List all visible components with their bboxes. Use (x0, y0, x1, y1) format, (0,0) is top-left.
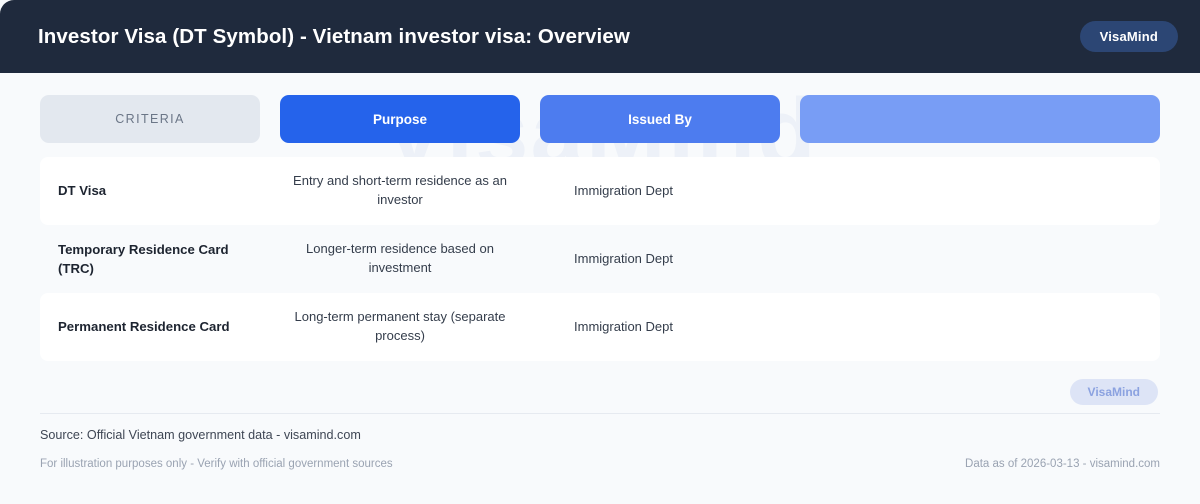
source-line: Source: Official Vietnam government data… (40, 428, 1160, 442)
cell-criteria: Temporary Residence Card (TRC) (40, 226, 260, 292)
table-container: CRITERIA Purpose Issued By DT Visa Entry… (0, 73, 1200, 361)
column-header-criteria[interactable]: CRITERIA (40, 95, 260, 143)
footer: VisaMind Source: Official Vietnam govern… (0, 379, 1200, 470)
data-as-of-text: Data as of 2026-03-13 - visamind.com (965, 458, 1160, 470)
cell-issued-by: Immigration Dept (540, 304, 780, 351)
cell-issued-by: Immigration Dept (540, 236, 780, 283)
title-bar: Investor Visa (DT Symbol) - Vietnam inve… (0, 0, 1200, 73)
cell-purpose: Longer-term residence based on investmen… (280, 226, 520, 292)
cell-purpose: Entry and short-term residence as an inv… (280, 158, 520, 224)
page-root: VisaMind Investor Visa (DT Symbol) - Vie… (0, 0, 1200, 504)
table-row: Permanent Residence Card Long-term perma… (40, 293, 1160, 361)
cell-criteria: Permanent Residence Card (40, 303, 260, 350)
table-body: DT Visa Entry and short-term residence a… (40, 157, 1160, 361)
brand-badge[interactable]: VisaMind (1080, 21, 1178, 52)
table-row: DT Visa Entry and short-term residence a… (40, 157, 1160, 225)
column-header-purpose[interactable]: Purpose (280, 95, 520, 143)
table-column-headers: CRITERIA Purpose Issued By (40, 95, 1160, 143)
footer-watermark-badge: VisaMind (1070, 379, 1158, 405)
footer-divider (40, 413, 1160, 414)
cell-extra (800, 177, 1160, 205)
footer-bottom-row: For illustration purposes only - Verify … (40, 458, 1160, 470)
column-header-extra[interactable] (800, 95, 1160, 143)
cell-purpose: Long-term permanent stay (separate proce… (280, 294, 520, 360)
cell-extra (800, 245, 1160, 273)
disclaimer-text: For illustration purposes only - Verify … (40, 458, 393, 470)
page-title: Investor Visa (DT Symbol) - Vietnam inve… (38, 25, 630, 49)
table-row: Temporary Residence Card (TRC) Longer-te… (40, 225, 1160, 293)
column-header-issued-by[interactable]: Issued By (540, 95, 780, 143)
cell-issued-by: Immigration Dept (540, 168, 780, 215)
footer-badge-row: VisaMind (40, 379, 1160, 405)
cell-extra (800, 313, 1160, 341)
cell-criteria: DT Visa (40, 167, 260, 214)
